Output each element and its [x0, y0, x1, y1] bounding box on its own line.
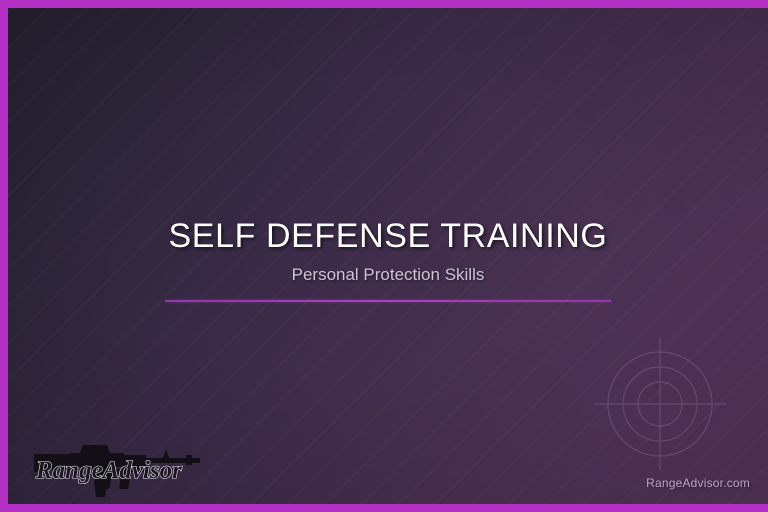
title-block: SELF DEFENSE TRAINING Personal Protectio…: [8, 214, 768, 302]
site-watermark: RangeAdvisor.com: [646, 476, 750, 490]
title-slide: SELF DEFENSE TRAINING Personal Protectio…: [0, 0, 768, 512]
page-subtitle: Personal Protection Skills: [8, 264, 768, 286]
logo-wordmark: RangeAdvisor: [35, 457, 182, 484]
title-divider: [165, 300, 611, 302]
brand-logo[interactable]: RangeAdvisor: [30, 436, 206, 502]
page-title: SELF DEFENSE TRAINING: [8, 214, 768, 258]
